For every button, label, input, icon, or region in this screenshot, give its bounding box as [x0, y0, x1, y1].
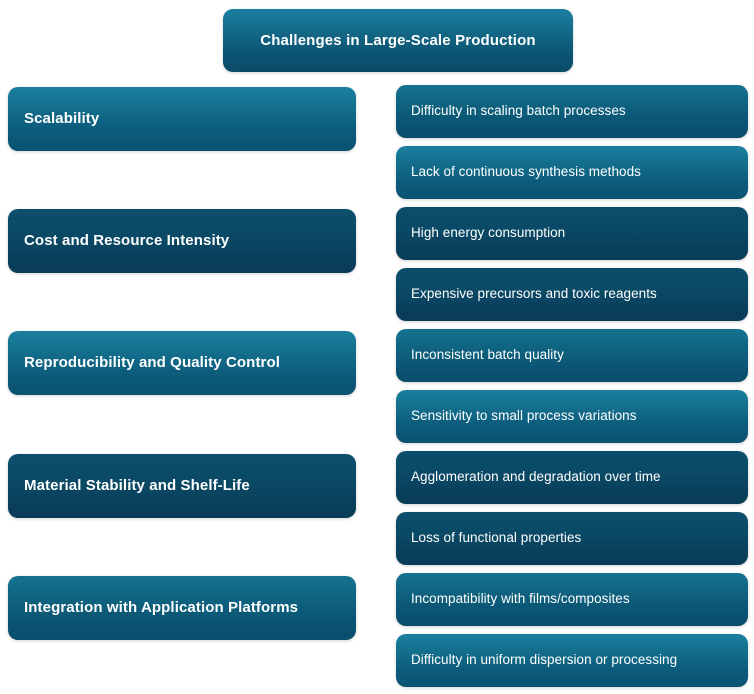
category-label: Scalability [24, 110, 99, 129]
detail-label: Sensitivity to small process variations [411, 408, 637, 425]
category-label: Cost and Resource Intensity [24, 232, 229, 251]
diagram-canvas: Challenges in Large-Scale Production Sca… [0, 0, 754, 694]
category-node-cost-and-resource-intensity: Cost and Resource Intensity [8, 209, 356, 273]
detail-node-1: Difficulty in scaling batch processes [396, 85, 748, 138]
detail-label: Incompatibility with films/composites [411, 591, 630, 608]
category-label: Material Stability and Shelf-Life [24, 477, 250, 496]
detail-label: Difficulty in uniform dispersion or proc… [411, 652, 677, 669]
category-label: Reproducibility and Quality Control [24, 354, 280, 373]
detail-node-10: Difficulty in uniform dispersion or proc… [396, 634, 748, 687]
detail-label: High energy consumption [411, 225, 565, 242]
detail-label: Expensive precursors and toxic reagents [411, 286, 657, 303]
detail-label: Loss of functional properties [411, 530, 581, 547]
detail-node-7: Agglomeration and degradation over time [396, 451, 748, 504]
category-node-material-stability-and-shelf-life: Material Stability and Shelf-Life [8, 454, 356, 518]
detail-node-9: Incompatibility with films/composites [396, 573, 748, 626]
detail-node-8: Loss of functional properties [396, 512, 748, 565]
detail-label: Agglomeration and degradation over time [411, 469, 661, 486]
category-node-integration-with-application-platforms: Integration with Application Platforms [8, 576, 356, 640]
detail-node-5: Inconsistent batch quality [396, 329, 748, 382]
detail-node-6: Sensitivity to small process variations [396, 390, 748, 443]
detail-label: Lack of continuous synthesis methods [411, 164, 641, 181]
detail-node-4: Expensive precursors and toxic reagents [396, 268, 748, 321]
detail-label: Difficulty in scaling batch processes [411, 103, 626, 120]
detail-node-2: Lack of continuous synthesis methods [396, 146, 748, 199]
diagram-title-label: Challenges in Large-Scale Production [244, 32, 551, 49]
detail-label: Inconsistent batch quality [411, 347, 564, 364]
category-label: Integration with Application Platforms [24, 599, 298, 618]
diagram-title-node: Challenges in Large-Scale Production [223, 9, 573, 72]
detail-node-3: High energy consumption [396, 207, 748, 260]
category-node-scalability: Scalability [8, 87, 356, 151]
category-node-reproducibility-and-quality-control: Reproducibility and Quality Control [8, 331, 356, 395]
